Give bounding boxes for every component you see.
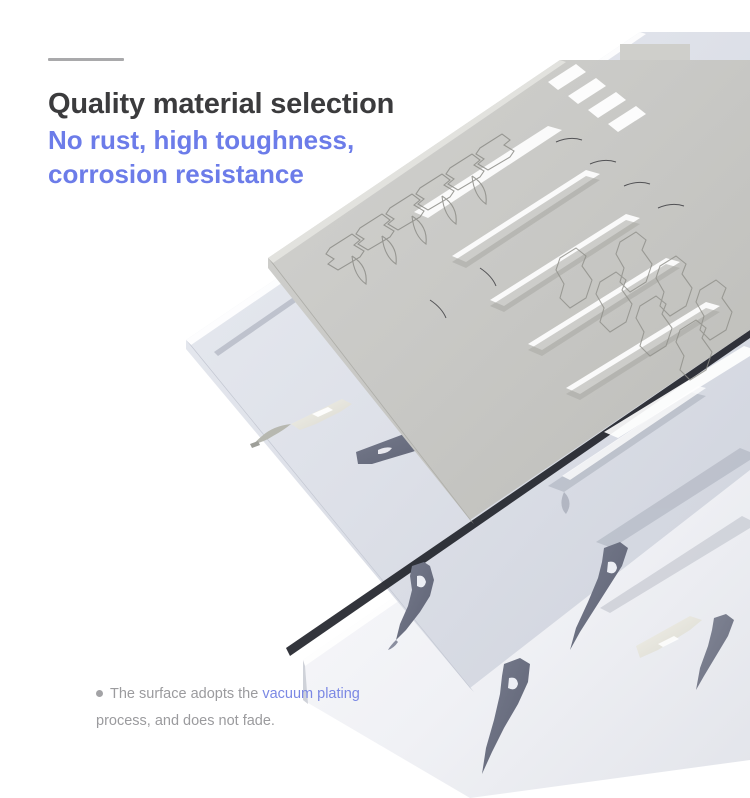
blade-piece-dark-5 — [696, 614, 734, 690]
blade-piece-dark-2 — [388, 562, 434, 650]
top-sheet-cut-lines — [430, 138, 684, 318]
page-subtitle-line-2: corrosion resistance — [48, 159, 304, 189]
caption-text-line-2: process, and does not fade. — [96, 713, 275, 729]
accent-rule — [48, 58, 124, 61]
headline-block: Quality material selection No rust, high… — [48, 48, 468, 192]
page-subtitle-line-1: No rust, high toughness, — [48, 125, 354, 155]
blade-piece-dark-3 — [570, 542, 628, 650]
falling-blades — [388, 542, 734, 774]
product-feature-page: Quality material selection No rust, high… — [0, 0, 750, 798]
bullet-icon — [96, 690, 103, 697]
blade-piece-light — [250, 399, 352, 448]
page-subtitle: No rust, high toughness, corrosion resis… — [48, 124, 388, 192]
top-sheet-engraved-cluster — [556, 232, 732, 380]
top-sheet-notch-slots — [548, 64, 646, 132]
page-title: Quality material selection — [48, 87, 468, 122]
blade-piece-light-2 — [636, 616, 702, 658]
middle-sheet-cutouts — [404, 220, 750, 570]
feature-caption: The surface adopts the vacuum platingpro… — [96, 681, 516, 735]
bottom-sheet-slots — [515, 426, 750, 613]
blade-piece-dark-1 — [356, 425, 484, 464]
caption-highlight: vacuum plating — [262, 686, 360, 702]
caption-text-part-1: The surface adopts the — [110, 686, 262, 702]
